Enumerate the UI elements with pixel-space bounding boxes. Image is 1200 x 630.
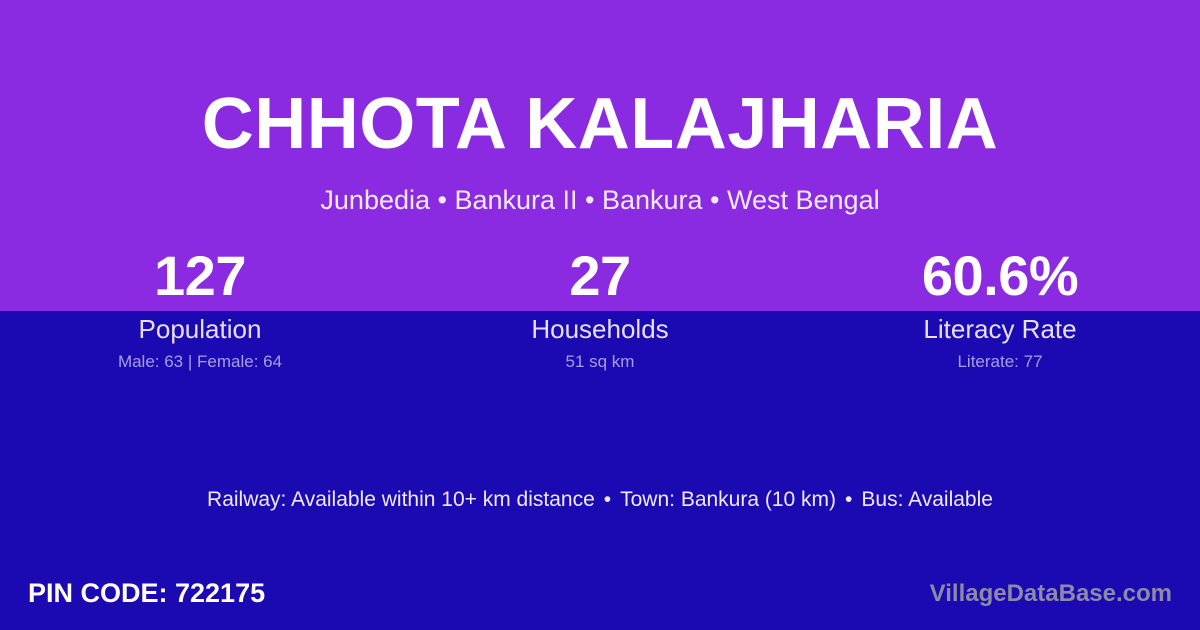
stat-population: 127 Population Male: 63 | Female: 64 (0, 240, 400, 373)
stat-label-literacy-rate: Literacy Rate (800, 312, 1200, 346)
connectivity-railway: Railway: Available within 10+ km distanc… (207, 488, 595, 511)
village-info-card: CHHOTA KALAJHARIA Junbedia • Bankura II … (0, 0, 1200, 630)
site-branding: VillageDataBase.com (930, 576, 1172, 612)
connectivity-separator-2: • (836, 488, 861, 511)
connectivity-info: Railway: Available within 10+ km distanc… (0, 485, 1200, 515)
stat-detail-households: 51 sq km (400, 351, 800, 373)
pin-code: PIN CODE: 722175 (28, 573, 265, 613)
stat-label-households: Households (400, 312, 800, 346)
stat-literacy-rate: 60.6% Literacy Rate Literate: 77 (800, 240, 1200, 373)
page-title: CHHOTA KALAJHARIA (0, 84, 1200, 164)
stats-row: 127 Population Male: 63 | Female: 64 27 … (0, 240, 1200, 373)
stat-value-literacy-rate: 60.6% (800, 240, 1200, 312)
connectivity-bus: Bus: Available (861, 488, 993, 511)
stat-detail-population: Male: 63 | Female: 64 (0, 351, 400, 373)
stat-label-population: Population (0, 312, 400, 346)
connectivity-town: Town: Bankura (10 km) (620, 488, 836, 511)
connectivity-separator-1: • (595, 488, 620, 511)
stat-detail-literacy-rate: Literate: 77 (800, 351, 1200, 373)
stat-households: 27 Households 51 sq km (400, 240, 800, 373)
stat-value-population: 127 (0, 240, 400, 312)
breadcrumb: Junbedia • Bankura II • Bankura • West B… (0, 182, 1200, 218)
stat-value-households: 27 (400, 240, 800, 312)
card-footer: PIN CODE: 722175 VillageDataBase.com (0, 573, 1200, 617)
